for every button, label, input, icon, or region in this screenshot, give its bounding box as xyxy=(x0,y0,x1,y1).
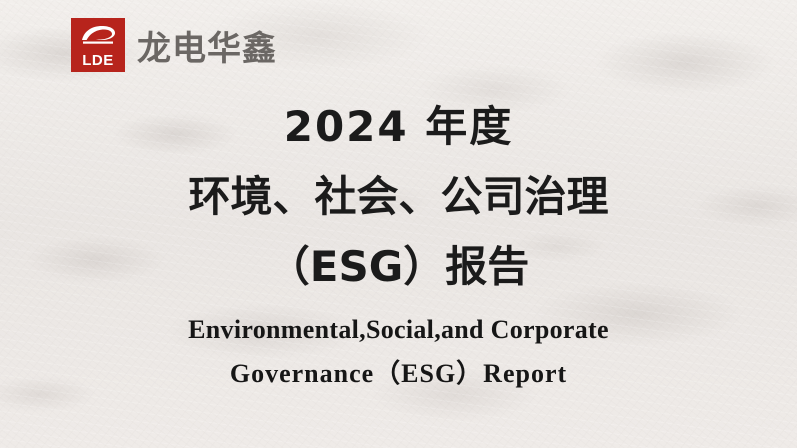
logo-mark-icon: LDE xyxy=(71,18,125,72)
title-block: 2024 年度 环境、社会、公司治理 （ESG）报告 Environmental… xyxy=(0,92,797,396)
logo-mark-text: LDE xyxy=(82,53,114,69)
company-name-cn: 龙电华鑫 xyxy=(137,21,277,70)
title-line-2: 环境、社会、公司治理 xyxy=(0,162,797,232)
subtitle-line-2: Governance（ESG）Report xyxy=(0,352,797,396)
cover-page: LDE 龙电华鑫 2024 年度 环境、社会、公司治理 （ESG）报告 Envi… xyxy=(0,0,797,448)
company-logo: LDE 龙电华鑫 xyxy=(71,18,277,72)
title-line-3: （ESG）报告 xyxy=(0,232,797,302)
iron-swoosh-icon xyxy=(80,25,116,44)
title-line-1: 2024 年度 xyxy=(0,92,797,162)
subtitle-line-1: Environmental,Social,and Corporate xyxy=(0,308,797,352)
